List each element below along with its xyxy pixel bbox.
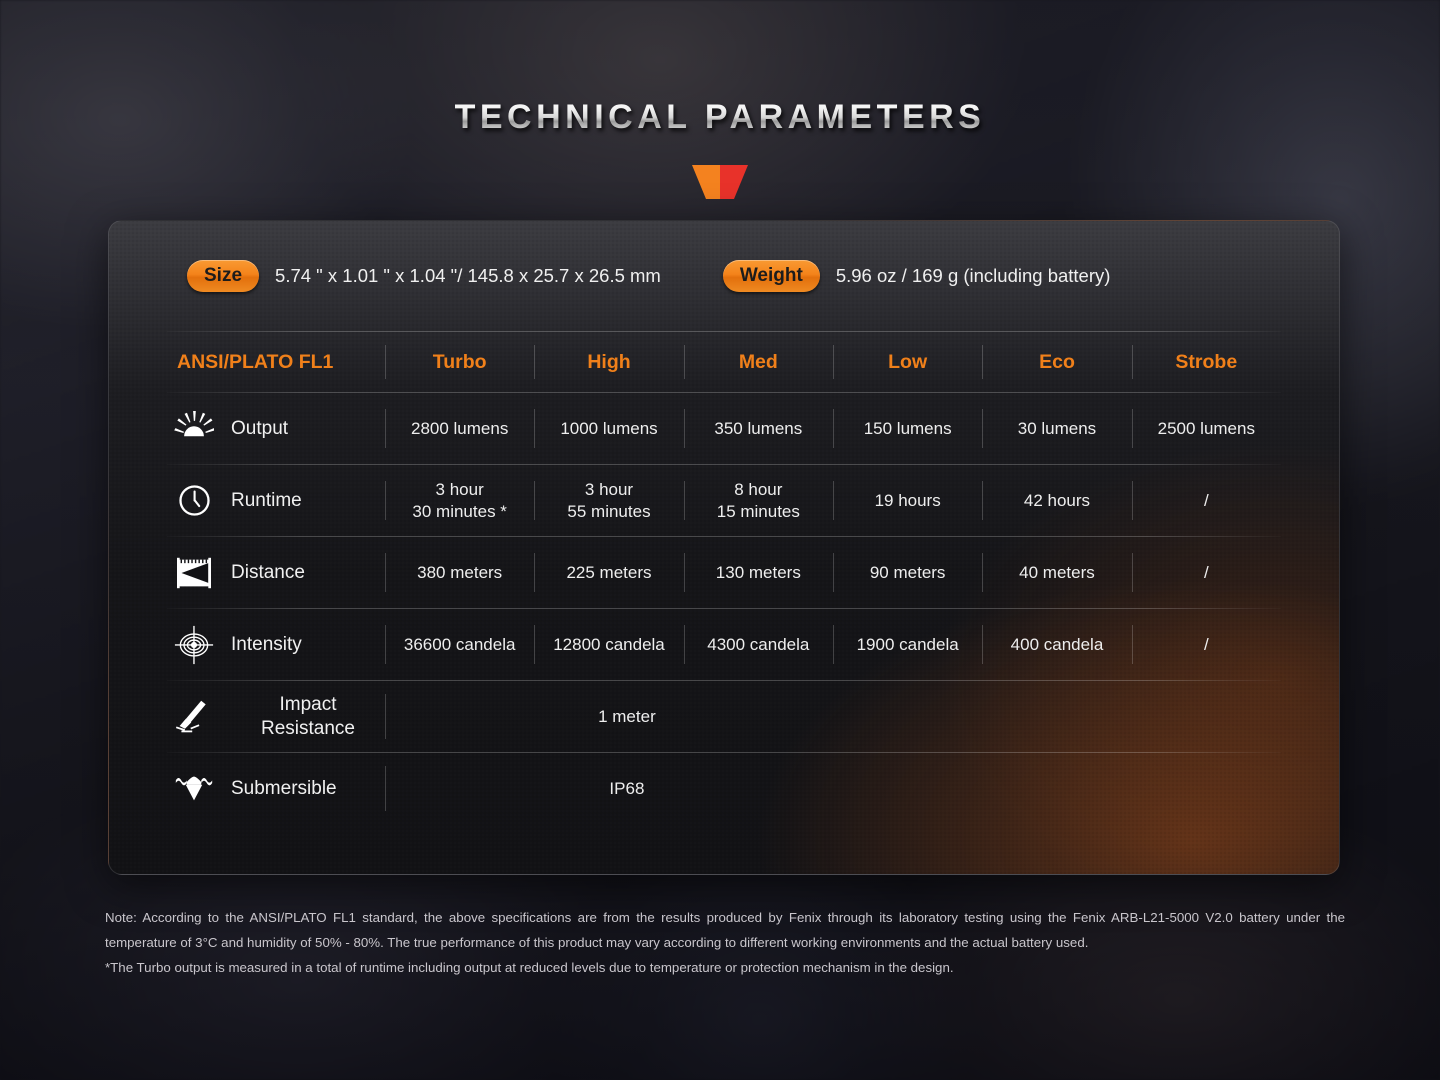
row-label-distance: Distance — [167, 537, 385, 608]
submersible-value-text: IP68 — [609, 779, 644, 799]
table-row: Impact Resistance 1 meter — [109, 681, 1339, 752]
cell-distance-high: 225 meters — [534, 537, 683, 608]
impact-drop-icon — [171, 696, 217, 738]
row-label-text: Submersible — [231, 777, 337, 801]
column-header-turbo: Turbo — [385, 332, 534, 392]
footnote: Note: According to the ANSI/PLATO FL1 st… — [105, 905, 1345, 980]
chevron-down-icon — [692, 165, 748, 199]
cell-runtime-low: 19 hours — [833, 465, 982, 536]
specs-panel: Size 5.74 " x 1.01 " x 1.04 "/ 145.8 x 2… — [108, 220, 1340, 875]
size-value: 5.74 " x 1.01 " x 1.04 "/ 145.8 x 25.7 x… — [275, 265, 661, 287]
cell-distance-strobe: / — [1132, 537, 1281, 608]
cell-runtime-strobe: / — [1132, 465, 1281, 536]
water-droplet-waves-icon — [171, 768, 217, 810]
sun-rays-icon — [171, 408, 217, 450]
row-label-text: Intensity — [231, 633, 302, 657]
cell-output-low: 150 lumens — [833, 393, 982, 464]
column-header-low: Low — [833, 332, 982, 392]
cell-distance-eco: 40 meters — [982, 537, 1131, 608]
row-label-submersible: Submersible — [167, 753, 385, 824]
cell-intensity-strobe: / — [1132, 609, 1281, 680]
cell-output-eco: 30 lumens — [982, 393, 1131, 464]
cell-intensity-low: 1900 candela — [833, 609, 982, 680]
row-label-text: Output — [231, 417, 288, 441]
page-title: TECHNICAL PARAMETERS — [455, 98, 986, 137]
table-row: Output 2800 lumens 1000 lumens 350 lumen… — [109, 393, 1339, 464]
impact-value-text: 1 meter — [598, 707, 656, 727]
row-label-text: Runtime — [231, 489, 302, 513]
cell-runtime-high: 3 hour 55 minutes — [534, 465, 683, 536]
column-header-high: High — [534, 332, 683, 392]
size-badge: Size — [187, 260, 259, 292]
cell-distance-med: 130 meters — [684, 537, 833, 608]
cell-runtime-med: 8 hour 15 minutes — [684, 465, 833, 536]
table-row: Runtime 3 hour 30 minutes * 3 hour 55 mi… — [109, 465, 1339, 536]
row-label-text: Impact Resistance — [231, 693, 385, 741]
table-row: Intensity 36600 candela 12800 candela 43… — [109, 609, 1339, 680]
target-rings-icon — [171, 624, 217, 666]
measuring-tape-icon — [171, 552, 217, 594]
column-header-med: Med — [684, 332, 833, 392]
cell-intensity-turbo: 36600 candela — [385, 609, 534, 680]
row-label-runtime: Runtime — [167, 465, 385, 536]
row-label-impact-resistance: Impact Resistance — [167, 681, 385, 752]
weight-value: 5.96 oz / 169 g (including battery) — [836, 265, 1111, 287]
footnote-line-1: Note: According to the ANSI/PLATO FL1 st… — [105, 905, 1345, 955]
clock-icon — [171, 480, 217, 522]
cell-intensity-med: 4300 candela — [684, 609, 833, 680]
table-row: Submersible IP68 — [109, 753, 1339, 824]
column-header-eco: Eco — [982, 332, 1131, 392]
cell-distance-turbo: 380 meters — [385, 537, 534, 608]
cell-runtime-turbo: 3 hour 30 minutes * — [385, 465, 534, 536]
cell-intensity-eco: 400 candela — [982, 609, 1131, 680]
cell-impact-resistance-value: 1 meter — [385, 681, 1281, 752]
weight-group: Weight 5.96 oz / 169 g (including batter… — [723, 260, 1111, 292]
weight-badge: Weight — [723, 260, 820, 292]
table-row: Distance 380 meters 225 meters 130 meter… — [109, 537, 1339, 608]
row-label-text: Distance — [231, 561, 305, 585]
cell-output-high: 1000 lumens — [534, 393, 683, 464]
table-header-row: ANSI/PLATO FL1 Turbo High Med Low Eco St… — [109, 332, 1339, 392]
footnote-line-2: *The Turbo output is measured in a total… — [105, 955, 1345, 980]
cell-distance-low: 90 meters — [833, 537, 982, 608]
column-header-strobe: Strobe — [1132, 332, 1281, 392]
cell-runtime-eco: 42 hours — [982, 465, 1131, 536]
size-group: Size 5.74 " x 1.01 " x 1.04 "/ 145.8 x 2… — [187, 260, 661, 292]
cell-submersible-value: IP68 — [385, 753, 1281, 824]
cell-intensity-high: 12800 candela — [534, 609, 683, 680]
size-weight-row: Size 5.74 " x 1.01 " x 1.04 "/ 145.8 x 2… — [109, 221, 1339, 331]
cell-output-turbo: 2800 lumens — [385, 393, 534, 464]
page-title-wrapper: TECHNICAL PARAMETERS — [0, 98, 1440, 137]
cell-output-med: 350 lumens — [684, 393, 833, 464]
cell-output-strobe: 2500 lumens — [1132, 393, 1281, 464]
row-label-intensity: Intensity — [167, 609, 385, 680]
column-header-standard: ANSI/PLATO FL1 — [167, 332, 385, 392]
row-label-output: Output — [167, 393, 385, 464]
